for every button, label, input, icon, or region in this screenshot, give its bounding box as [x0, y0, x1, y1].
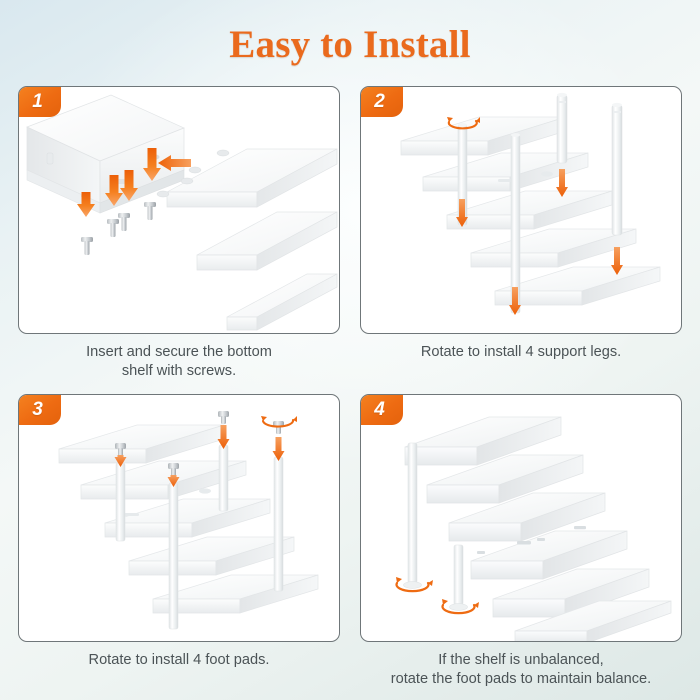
caption-line: Rotate to install 4 foot pads.	[18, 651, 340, 670]
caption-line: rotate the foot pads to maintain balance…	[360, 670, 682, 689]
step-panel-2: 2	[360, 86, 682, 334]
support-leg-loose	[557, 93, 567, 163]
caption-line: shelf with screws.	[18, 362, 340, 381]
step-card-2: 2	[360, 86, 682, 362]
page-title: Easy to Install	[0, 22, 700, 67]
step-illustration-3	[19, 395, 339, 641]
step-panel-1: 1	[18, 86, 340, 334]
step-badge-4: 4	[360, 394, 403, 425]
step-badge-1: 1	[18, 86, 61, 117]
support-leg-installed	[511, 133, 520, 313]
step-card-3: 3	[18, 394, 340, 670]
screw	[81, 237, 93, 255]
step-caption-2: Rotate to install 4 support legs.	[360, 343, 682, 362]
support-leg-installed	[169, 483, 178, 629]
step-caption-3: Rotate to install 4 foot pads.	[18, 651, 340, 670]
step-caption-4: If the shelf is unbalanced, rotate the f…	[360, 651, 682, 689]
steps-grid: 1	[18, 86, 682, 666]
screw	[107, 219, 119, 237]
step-illustration-2	[361, 87, 681, 333]
step-panel-3: 3	[18, 394, 340, 642]
support-leg-with-pad	[450, 545, 468, 610]
screw	[118, 213, 130, 231]
foot-pad	[218, 411, 229, 424]
screw	[144, 202, 156, 220]
step-card-1: 1	[18, 86, 340, 381]
step-illustration-1	[19, 87, 339, 333]
support-leg-installed	[274, 457, 283, 591]
screw-set	[81, 202, 156, 255]
support-leg-loose	[612, 103, 622, 235]
support-leg-installed	[219, 445, 228, 511]
caption-line: Insert and secure the bottom	[18, 343, 340, 362]
caption-line: If the shelf is unbalanced,	[360, 651, 682, 670]
step-illustration-4	[361, 395, 681, 641]
install-guide-page: Easy to Install 1	[0, 0, 700, 700]
step-caption-1: Insert and secure the bottom shelf with …	[18, 343, 340, 381]
step-panel-4: 4	[360, 394, 682, 642]
step-badge-2: 2	[360, 86, 403, 117]
step-card-4: 4	[360, 394, 682, 689]
caption-line: Rotate to install 4 support legs.	[360, 343, 682, 362]
assembled-shelf	[405, 417, 671, 642]
step-badge-3: 3	[18, 394, 61, 425]
support-leg-installed	[116, 463, 125, 541]
